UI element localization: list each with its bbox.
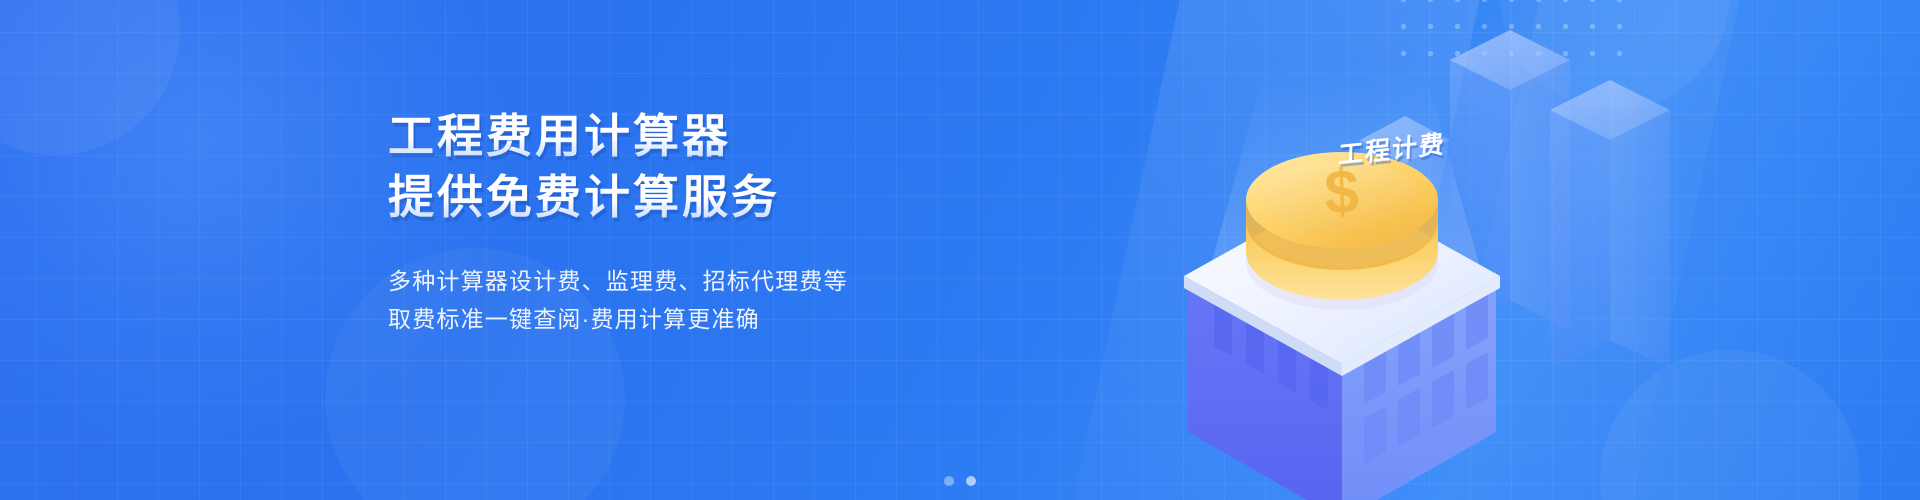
gold-coin-stack: $: [1246, 152, 1438, 310]
promo-banner: 工程费用计算器 提供免费计算服务 多种计算器设计费、监理费、招标代理费等 取费标…: [0, 0, 1920, 500]
isometric-building-coin-illustration: $: [1080, 0, 1920, 500]
banner-illustration: $ 工程计费: [1080, 0, 1920, 500]
headline-line-2: 提供免费计算服务: [388, 169, 1028, 226]
carousel-dot-1[interactable]: [944, 476, 954, 486]
carousel-dot-2[interactable]: [966, 476, 976, 486]
carousel-dots[interactable]: [944, 476, 976, 486]
subtitle-line-1: 多种计算器设计费、监理费、招标代理费等: [388, 262, 1028, 300]
headline-line-1: 工程费用计算器: [388, 108, 1028, 165]
banner-copy: 工程费用计算器 提供免费计算服务 多种计算器设计费、监理费、招标代理费等 取费标…: [388, 108, 1028, 338]
banner-subtitle: 多种计算器设计费、监理费、招标代理费等 取费标准一键查阅·费用计算更准确: [388, 262, 1028, 338]
subtitle-line-2: 取费标准一键查阅·费用计算更准确: [388, 300, 1028, 338]
